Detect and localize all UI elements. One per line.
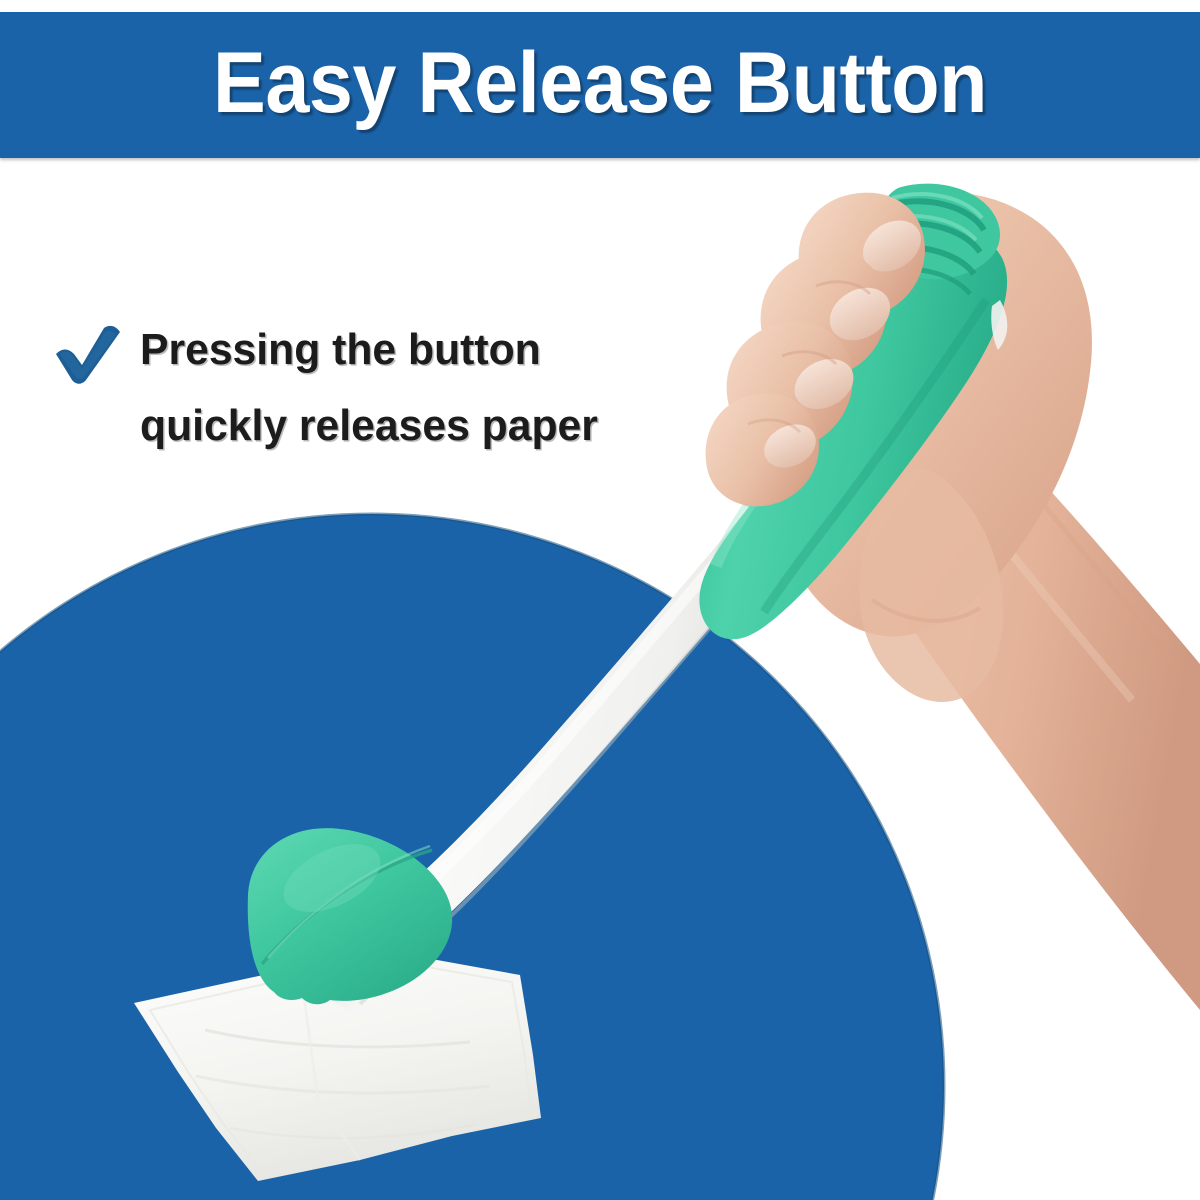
product-photo [0,0,1200,1200]
blue-checkmark-icon [52,318,124,390]
page-title: Easy Release Button [48,12,1152,158]
header-banner: Easy Release Button [0,12,1200,158]
product-feature-image: Easy Release Button Pressing the button … [0,0,1200,1200]
feature-line-2: quickly releases paper [140,388,635,464]
feature-bullet-text: Pressing the button quickly releases pap… [140,312,635,464]
feature-line-1: Pressing the button [140,312,635,388]
